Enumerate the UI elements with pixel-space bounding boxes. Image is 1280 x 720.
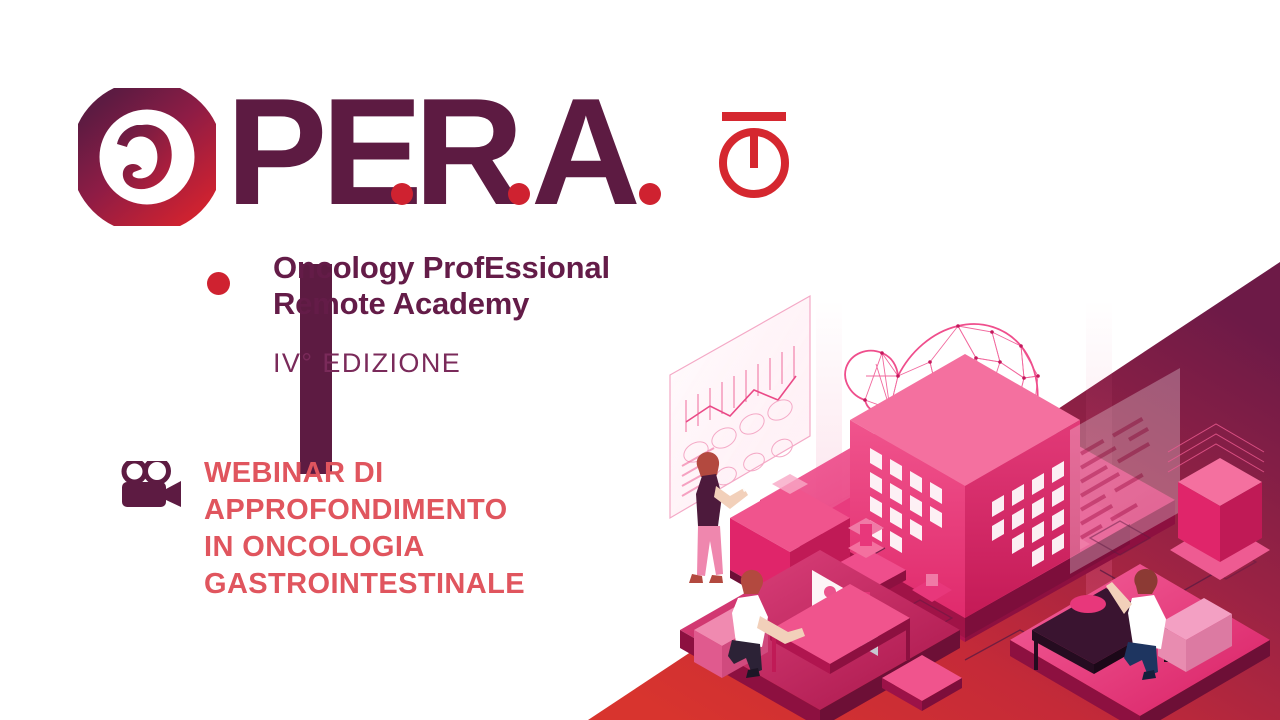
logo-dot-after-o bbox=[207, 272, 230, 295]
webinar-line-1: WEBINAR DI bbox=[204, 455, 525, 492]
poster-canvas: PE R A Oncology ProfEssional bbox=[0, 0, 1280, 720]
webinar-line-4: GASTROINTESTINALE bbox=[204, 566, 525, 603]
edition-label: IV° EDIZIONE bbox=[273, 348, 461, 379]
webinar-line-2: APPROFONDIMENTO bbox=[204, 492, 525, 529]
svg-text:PE: PE bbox=[226, 82, 417, 232]
webinar-line-3: IN ONCOLOGIA bbox=[204, 529, 525, 566]
right-server-cube bbox=[1168, 424, 1270, 580]
webinar-block: WEBINAR DI APPROFONDIMENTO IN ONCOLOGIA … bbox=[120, 455, 590, 603]
svg-text:R: R bbox=[414, 82, 521, 232]
webinar-headline: WEBINAR DI APPROFONDIMENTO IN ONCOLOGIA … bbox=[204, 455, 525, 603]
logo-o-stomach-icon bbox=[78, 88, 216, 226]
isometric-illustration bbox=[620, 100, 1280, 720]
movie-camera-icon bbox=[120, 461, 182, 511]
